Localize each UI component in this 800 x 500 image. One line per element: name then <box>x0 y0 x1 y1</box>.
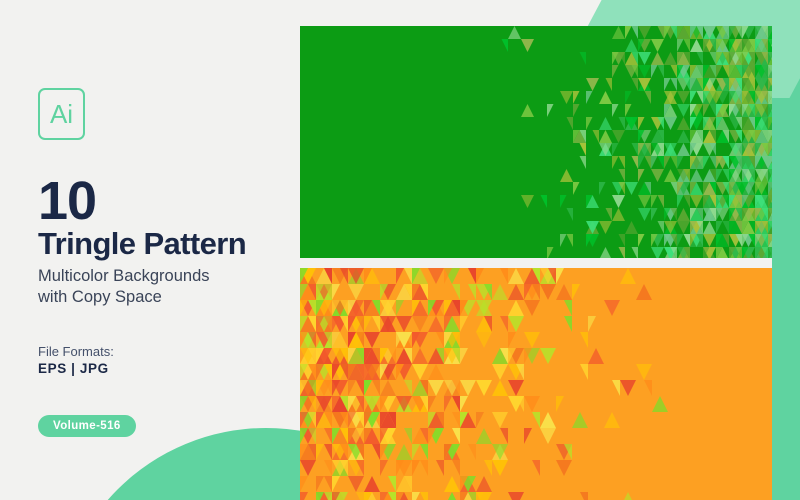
volume-badge-label: Volume-516 <box>53 420 121 432</box>
preview-card-canvas: Ai 10 Tringle Pattern Multicolor Backgro… <box>0 0 800 500</box>
mint-right-edge-shape <box>772 0 800 500</box>
preview-panel-orange <box>300 268 772 500</box>
page-title: Tringle Pattern <box>38 228 246 259</box>
orange-triangle-pattern-graphic <box>300 268 772 500</box>
adobe-illustrator-badge-icon: Ai <box>38 88 85 140</box>
ai-badge-label: Ai <box>50 101 73 127</box>
mint-top-triangle-shape <box>740 0 800 26</box>
item-count: 10 <box>38 174 96 228</box>
product-info-column: Ai 10 Tringle Pattern Multicolor Backgro… <box>38 0 296 500</box>
green-triangle-pattern-graphic <box>300 26 772 258</box>
preview-panel-green <box>300 26 772 258</box>
file-formats-label: File Formats: <box>38 344 114 359</box>
volume-badge: Volume-516 <box>38 415 136 437</box>
file-formats-value: EPS | JPG <box>38 361 109 376</box>
mint-top-band-shape <box>612 0 800 26</box>
product-subtitle: Multicolor Backgrounds with Copy Space <box>38 266 288 308</box>
